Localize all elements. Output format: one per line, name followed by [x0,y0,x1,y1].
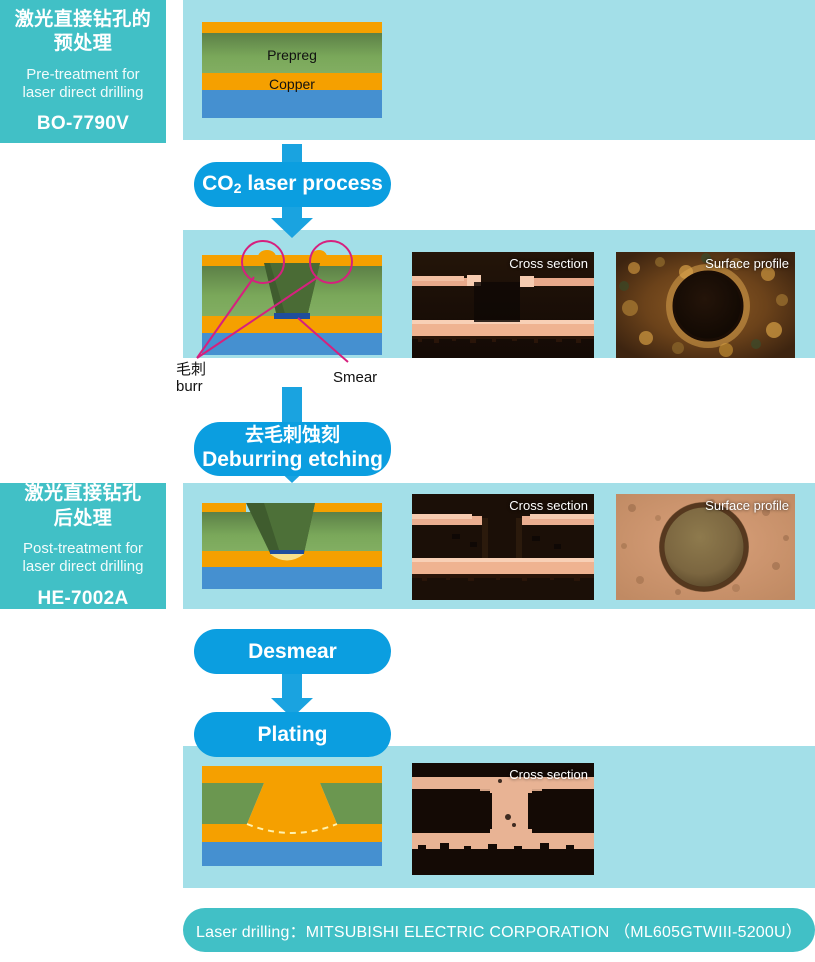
flow-diagram-root: 激光直接钻孔的 预处理 Pre-treatment for laser dire… [0,0,815,962]
callout-label-smear: Smear [333,370,377,387]
co2-label-main: CO [202,172,234,195]
stack-after-deburring [202,503,382,589]
step-pill-desmear-label: Desmear [248,640,337,664]
stack-after-plating [202,766,382,866]
step-pill-co2-label: CO2 laser process [202,172,383,197]
co2-label-sub: 2 [234,181,242,197]
callout-burr-en: burr [176,379,206,396]
step-pill-plating-label: Plating [257,723,327,747]
step-pill-deburring-en: Deburring etching [202,448,383,473]
step-pill-desmear[interactable]: Desmear [194,629,391,674]
step-pill-co2-laser-process[interactable]: CO2 laser process [194,162,391,207]
step-pill-deburring-etching[interactable]: 去毛刺蚀刻 Deburring etching [194,422,391,476]
plated-via-shape [202,766,382,866]
callout-label-burr: 毛刺 burr [176,362,206,395]
step-pill-plating[interactable]: Plating [194,712,391,757]
callout-burr-cn: 毛刺 [176,362,206,379]
co2-label-rest: laser process [242,172,383,195]
step-pill-deburring-cn: 去毛刺蚀刻 [245,425,340,447]
deburred-hole-shape [202,503,382,589]
callout-leader-lines[interactable] [0,0,815,962]
callout-smear-en: Smear [333,370,377,387]
